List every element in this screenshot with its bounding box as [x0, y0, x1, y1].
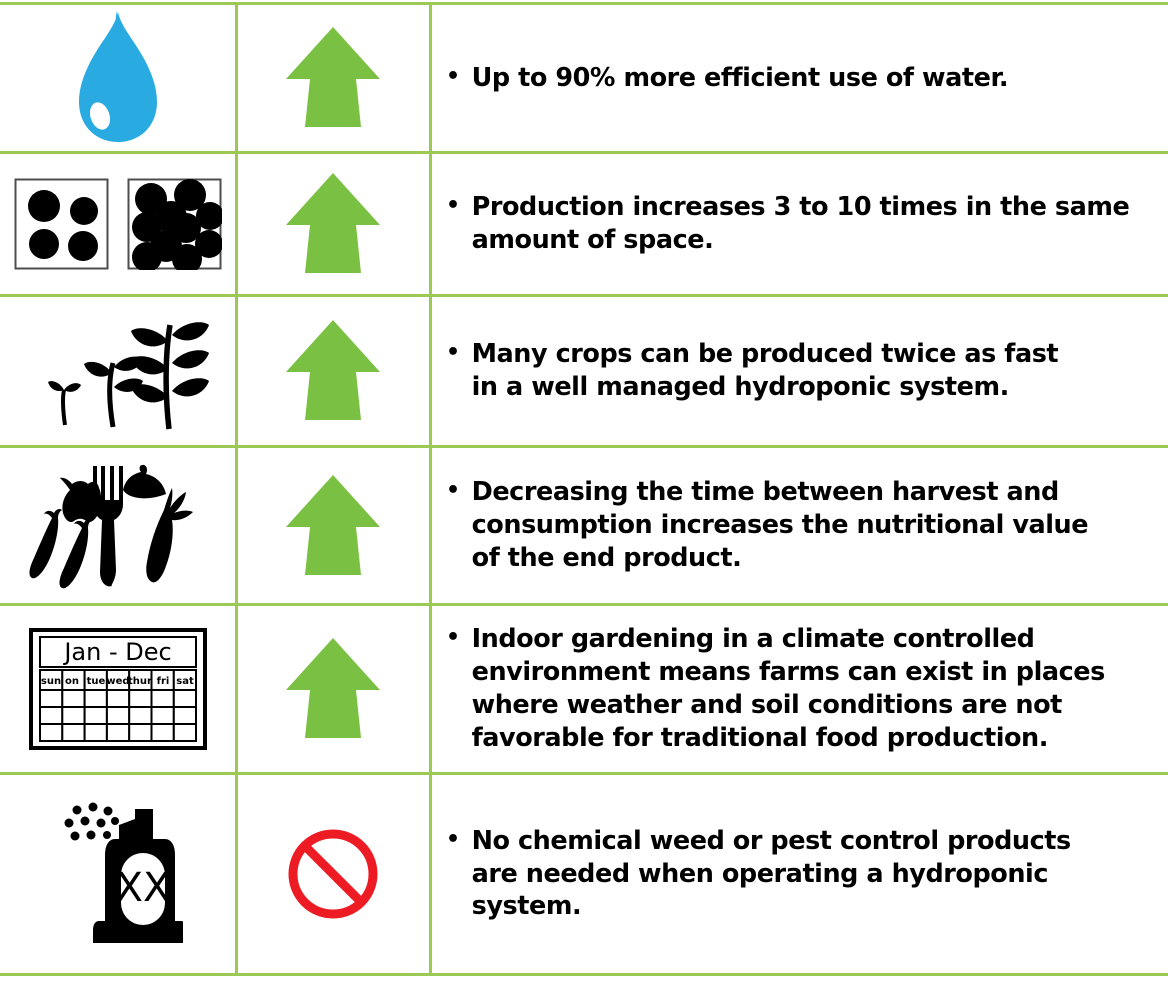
icon-cell-water [0, 5, 236, 151]
text-cell-no-chemicals: • No chemical weed or pest control produ… [430, 775, 1168, 973]
calendar-empty-weeks [40, 690, 196, 741]
vegetables-and-fork-icon [26, 458, 211, 593]
indicator-cell-1 [236, 5, 430, 151]
bullet-marker: • [446, 338, 460, 367]
plant-growth-stages-icon [23, 311, 213, 431]
indicator-cell-4 [236, 448, 430, 603]
calendar-icon: Jan - Dec sun on tue wed thur fri [29, 628, 207, 750]
hydroponics-benefits-infographic: • Up to 90% more efficient use of water. [0, 0, 1168, 982]
benefit-text: Decreasing the time between harvest and … [472, 476, 1088, 575]
benefit-text: Up to 90% more efficient use of water. [472, 62, 1009, 95]
benefit-bullet-nutrition: • Decreasing the time between harvest an… [446, 476, 1088, 575]
benefit-row-production: • Production increases 3 to 10 times in … [0, 154, 1168, 294]
benefit-row-growth-speed: • Many crops can be produced twice as fa… [0, 297, 1168, 445]
benefit-text: Many crops can be produced twice as fast… [472, 338, 1059, 404]
benefit-row-climate: Jan - Dec sun on tue wed thur fri [0, 606, 1168, 772]
icon-cell-density [0, 154, 236, 294]
indicator-cell-6 [236, 775, 430, 973]
bullet-marker: • [446, 62, 460, 91]
benefit-bullet-growth-speed: • Many crops can be produced twice as fa… [446, 338, 1058, 404]
benefit-bullet-production: • Production increases 3 to 10 times in … [446, 191, 1129, 257]
bullet-marker: • [446, 623, 460, 652]
benefit-bullet-water: • Up to 90% more efficient use of water. [446, 62, 1008, 95]
prohibition-icon [285, 826, 381, 922]
text-cell-water: • Up to 90% more efficient use of water. [430, 5, 1168, 151]
calendar-day-fri: fri [157, 676, 170, 687]
grid-line-bottom [0, 973, 1168, 976]
plant-density-comparison-icon [14, 178, 222, 270]
icon-cell-calendar: Jan - Dec sun on tue wed thur fri [0, 606, 236, 772]
calendar-day-tue: tue [87, 676, 106, 687]
text-cell-climate: • Indoor gardening in a climate controll… [430, 606, 1168, 772]
icon-cell-growth [0, 297, 236, 445]
indicator-cell-3 [236, 297, 430, 445]
up-arrow-icon [283, 471, 383, 581]
bullet-marker: • [446, 476, 460, 505]
calendar-day-thur: thur [128, 676, 152, 687]
benefit-text: Indoor gardening in a climate controlled… [472, 623, 1105, 755]
calendar-header-text: Jan - Dec [62, 638, 171, 666]
text-cell-production: • Production increases 3 to 10 times in … [430, 154, 1168, 294]
text-cell-growth-speed: • Many crops can be produced twice as fa… [430, 297, 1168, 445]
benefit-row-nutrition: • Decreasing the time between harvest an… [0, 448, 1168, 603]
indicator-cell-2 [236, 154, 430, 294]
bullet-marker: • [446, 191, 460, 220]
up-arrow-icon [283, 634, 383, 744]
spray-mist-dots [65, 803, 120, 841]
bullet-marker: • [446, 825, 460, 854]
icon-cell-vegetables [0, 448, 236, 603]
benefit-text: Production increases 3 to 10 times in th… [472, 191, 1130, 257]
spray-bottle-chemical-icon: XX [53, 799, 183, 949]
benefit-bullet-climate: • Indoor gardening in a climate controll… [446, 623, 1105, 755]
up-arrow-icon [283, 169, 383, 279]
text-cell-nutrition: • Decreasing the time between harvest an… [430, 448, 1168, 603]
benefit-text: No chemical weed or pest control product… [472, 825, 1150, 924]
up-arrow-icon [283, 23, 383, 133]
calendar-day-on: on [65, 676, 79, 687]
water-droplet-icon [63, 8, 173, 148]
indicator-cell-5 [236, 606, 430, 772]
benefit-bullet-no-chemicals: • No chemical weed or pest control produ… [446, 825, 1150, 924]
benefit-row-water: • Up to 90% more efficient use of water. [0, 5, 1168, 151]
icon-cell-spray-bottle: XX [0, 775, 236, 973]
spray-bottle-label: XX [116, 865, 171, 911]
benefit-row-no-chemicals: XX • No chemical weed or pest control pr… [0, 775, 1168, 973]
up-arrow-icon [283, 316, 383, 426]
calendar-day-wed: wed [106, 676, 129, 687]
calendar-day-sat: sat [176, 676, 194, 687]
calendar-day-sun: sun [41, 676, 61, 687]
